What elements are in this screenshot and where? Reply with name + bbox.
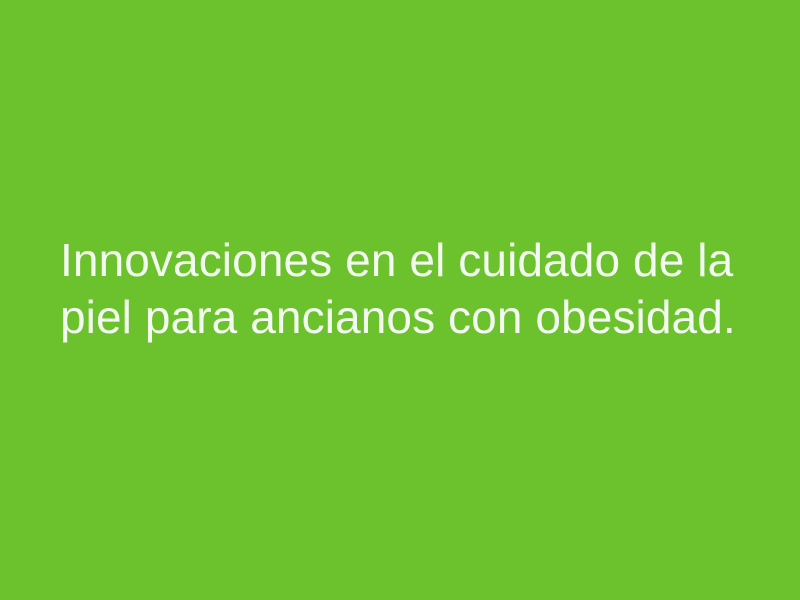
headline-block: Innovaciones en el cuidado de la piel pa… — [60, 232, 760, 346]
page-title: Innovaciones en el cuidado de la piel pa… — [60, 232, 760, 346]
article-title-banner: Innovaciones en el cuidado de la piel pa… — [0, 0, 800, 600]
